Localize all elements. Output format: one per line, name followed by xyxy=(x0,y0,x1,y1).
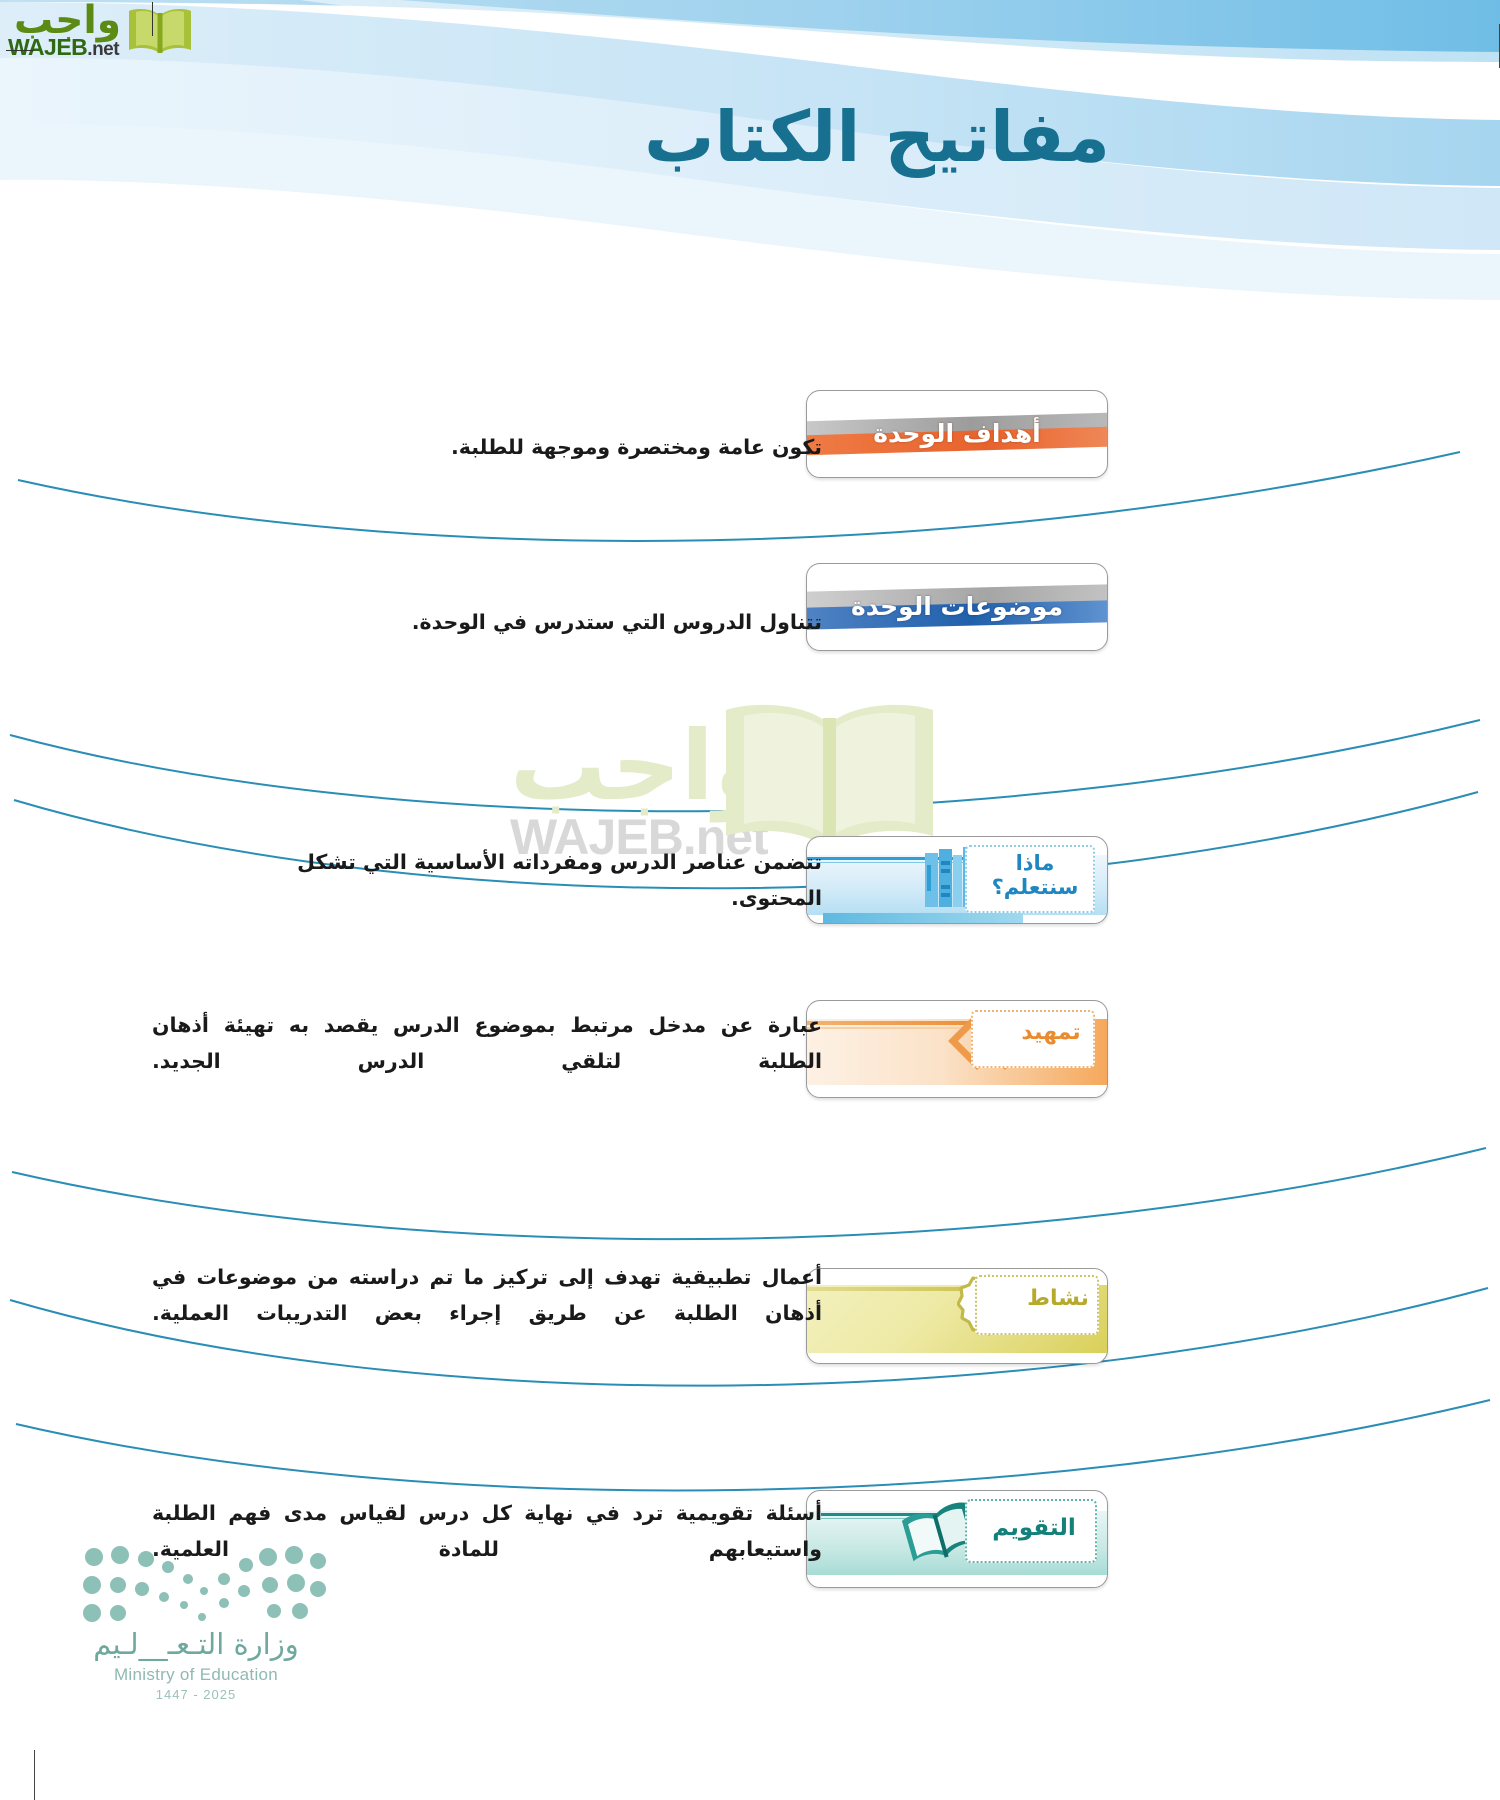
badge-label: موضوعات الوحدة xyxy=(807,564,1107,650)
crop-mark-bottom-left xyxy=(34,1750,35,1800)
key-description-4: عبارة عن مدخل مرتبط بموضوع الدرس يقصد به… xyxy=(152,1008,822,1080)
key-description-2: تتناول الدروس التي ستدرس في الوحدة. xyxy=(352,605,822,641)
badge-top-bar xyxy=(807,1287,967,1291)
badge-what-will-we-learn[interactable]: ماذا سنتعلم؟ xyxy=(806,836,1108,924)
wajeb-latin-text: WAJEB.net xyxy=(8,34,119,61)
ministry-of-education-logo: وزارة التـعـ__لـيم Ministry of Education… xyxy=(78,1545,328,1695)
badge-unit-objectives[interactable]: أهداف الوحدة xyxy=(806,390,1108,478)
badge-label-line2: سنتعلم؟ xyxy=(992,875,1079,899)
badge-label: ماذا سنتعلم؟ xyxy=(985,851,1085,899)
crop-mark-vertical xyxy=(152,2,153,36)
badge-unit-topics[interactable]: موضوعات الوحدة xyxy=(806,563,1108,651)
wajeb-watermark-logo: واجب WAJEB.net xyxy=(6,2,216,64)
badge-label: أهداف الوحدة xyxy=(807,391,1107,477)
key-description-5: أعمال تطبيقية تهدف إلى تركيز ما تم دراست… xyxy=(152,1260,822,1332)
badge-introduction[interactable]: تمهيد xyxy=(806,1000,1108,1098)
key-description-3: تتضمن عناصر الدرس ومفرداته الأساسية التي… xyxy=(202,845,822,917)
badge-assessment[interactable]: التقويم xyxy=(806,1490,1108,1588)
moe-dots-mark xyxy=(78,1545,328,1631)
badge-label: نشاط xyxy=(1025,1286,1091,1311)
page-title: مفاتيح الكتاب xyxy=(644,96,1110,178)
ministry-name-arabic: وزارة التـعـ__لـيم xyxy=(86,1627,306,1661)
badge-activity[interactable]: نشاط xyxy=(806,1268,1108,1364)
badge-label: التقويم xyxy=(981,1515,1087,1541)
badge-bottom-bar xyxy=(823,913,1023,923)
ministry-year: 2025 - 1447 xyxy=(86,1687,306,1702)
wajeb-book-icon xyxy=(124,6,196,62)
badge-label-line1: ماذا xyxy=(1016,851,1055,875)
crop-mark-horizontal xyxy=(6,50,34,51)
badge-label: تمهيد xyxy=(1015,1020,1087,1045)
textbook-page: واجب WAJEB.net مفاتيح الكتاب واجب WAJEB.… xyxy=(0,0,1500,1800)
ministry-name-english: Ministry of Education xyxy=(86,1665,306,1685)
key-description-1: تكون عامة ومختصرة وموجهة للطلبة. xyxy=(352,430,822,466)
